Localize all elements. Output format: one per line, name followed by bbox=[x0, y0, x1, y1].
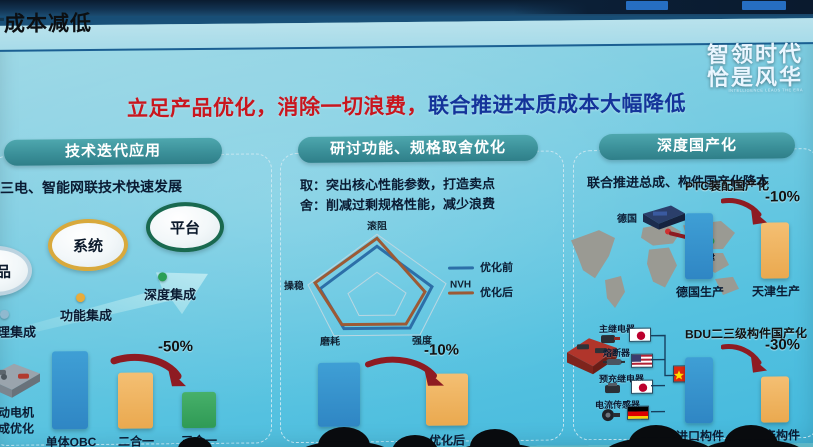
node-label: 系统 bbox=[73, 234, 103, 255]
bar-label: 二合一 bbox=[107, 432, 165, 447]
slide-title: 成本减低 bbox=[4, 7, 92, 38]
svg-text:操稳: 操稳 bbox=[284, 279, 304, 292]
stage-dot bbox=[0, 310, 9, 319]
relay-icon bbox=[599, 332, 621, 345]
legend-label: 优化前 bbox=[480, 259, 513, 275]
ceiling-light bbox=[742, 1, 786, 10]
bar-before-optimization bbox=[318, 362, 360, 426]
node-label: 单品 bbox=[0, 260, 11, 281]
reduction-annotation: -10% bbox=[424, 341, 459, 358]
current-sensor-icon bbox=[599, 408, 621, 422]
legend-swatch bbox=[448, 266, 474, 269]
reduction-annotation: -10% bbox=[765, 188, 800, 205]
bar-label: 进口构件 bbox=[673, 427, 727, 445]
legend-item: 优化前 bbox=[448, 259, 513, 276]
column-1-title: 技术迭代应用 bbox=[4, 138, 222, 166]
fuse-icon bbox=[603, 356, 625, 368]
svg-text:滚阻: 滚阻 bbox=[367, 219, 387, 232]
column-localization: 深度国产化 联合推进总成、构件国产化降本 bbox=[569, 138, 813, 440]
tradeoff-value: 突出核心性能参数，打造卖点 bbox=[326, 176, 495, 193]
reduction-annotation: -30% bbox=[765, 336, 800, 353]
bar-label: 国产构件 bbox=[749, 426, 803, 444]
bar-tianjin-production bbox=[761, 222, 789, 278]
bar-three-in-one bbox=[182, 392, 216, 428]
column-technology-iteration: 技术迭代应用 三电、智能网联技术快速发展 单品 系统 bbox=[0, 143, 274, 446]
legend-swatch bbox=[448, 291, 474, 294]
photo-caption-line1: 驱动电机 bbox=[0, 404, 40, 422]
decline-arrow-icon bbox=[110, 350, 190, 393]
stage-dot bbox=[76, 293, 85, 302]
flag-germany-icon bbox=[627, 406, 649, 420]
tradeoff-key: 取： bbox=[300, 178, 326, 193]
stage-label-physical: 物理集成 bbox=[0, 322, 36, 341]
node-label: 平台 bbox=[170, 216, 200, 237]
slide-headline: 立足产品优化，消除一切浪费，联合推进本质成本大幅降低 bbox=[0, 86, 813, 124]
headline-part-blue: 联合推进本质成本大幅降低 bbox=[428, 92, 686, 117]
headline-part-red: 立足产品优化，消除一切浪费， bbox=[127, 95, 428, 121]
bar-label: 优化前 bbox=[309, 432, 369, 447]
radar-legend: 优化前 优化后 bbox=[448, 259, 513, 310]
motor-photo-icon bbox=[0, 351, 44, 404]
stage-label-deep: 深度集成 bbox=[144, 284, 196, 303]
bar-label: 优化后 bbox=[417, 431, 477, 447]
presentation-slide: 成本减低 智领时代 恰是风华 INTELLIGENCE LEADS THE ER… bbox=[0, 18, 813, 447]
ceiling-light bbox=[626, 1, 668, 10]
stage-dot bbox=[158, 272, 167, 281]
ptc-localization-title: PTC装配国产化 bbox=[685, 177, 769, 195]
column-1-subhead: 三电、智能网联技术快速发展 bbox=[0, 176, 182, 198]
flag-japan-icon bbox=[631, 380, 653, 394]
tradeoff-value: 削减过剩规格性能，减少浪费 bbox=[326, 196, 495, 213]
radar-chart: 滚阻 NVH 强度 磨耗 操稳 bbox=[282, 219, 472, 346]
brand-line1: 智领时代 bbox=[707, 41, 803, 67]
reduction-annotation: -50% bbox=[158, 338, 193, 355]
bar-germany-production bbox=[685, 213, 713, 279]
bar-imported-components bbox=[685, 357, 713, 423]
tradeoff-line-1: 取：突出核心性能参数，打造卖点 bbox=[300, 173, 495, 194]
legend-item: 优化后 bbox=[448, 284, 513, 301]
tradeoff-line-2: 舍：削减过剩规格性能，减少浪费 bbox=[300, 193, 495, 214]
bar-label: 天津生产 bbox=[749, 282, 803, 300]
flag-japan-icon bbox=[629, 328, 651, 342]
bar-obc bbox=[52, 351, 88, 429]
column-spec-tradeoff: 研讨功能、规格取舍优化 取：突出核心性能参数，打造卖点 舍：削减过剩规格性能，减… bbox=[276, 140, 566, 443]
legend-label: 优化后 bbox=[480, 284, 513, 300]
svg-text:德国: 德国 bbox=[616, 212, 637, 225]
stage-label-functional: 功能集成 bbox=[60, 305, 112, 324]
svg-text:磨耗: 磨耗 bbox=[319, 335, 340, 347]
photo-caption-line2: 集成优化 bbox=[0, 420, 40, 438]
tradeoff-key: 舍： bbox=[300, 198, 326, 213]
column-2-title: 研讨功能、规格取舍优化 bbox=[298, 135, 538, 163]
precharge-relay-icon bbox=[603, 382, 625, 395]
bar-label: 单体OBC bbox=[42, 433, 100, 447]
connector-lines bbox=[651, 333, 677, 419]
flag-usa-icon bbox=[631, 354, 653, 368]
column-3-title: 深度国产化 bbox=[599, 132, 795, 160]
screenshot-root: 成本减低 智领时代 恰是风华 INTELLIGENCE LEADS THE ER… bbox=[0, 0, 813, 447]
bar-label: 三合一 bbox=[170, 432, 228, 447]
bar-label: 德国生产 bbox=[673, 283, 727, 301]
bar-domestic-components bbox=[761, 376, 789, 422]
